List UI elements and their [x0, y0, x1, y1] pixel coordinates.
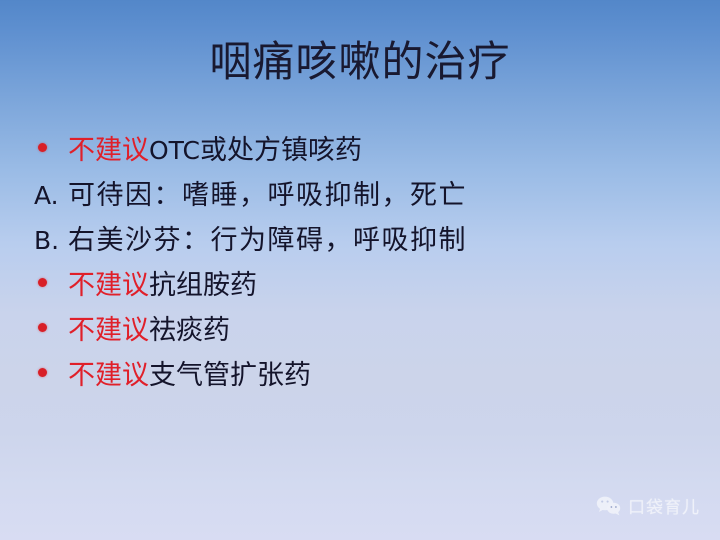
body-text: 支气管扩张药 — [149, 360, 311, 391]
body-text: 可待因：嗜睡，呼吸抑制，死亡 — [68, 180, 467, 211]
emphasis-text: 不建议 — [68, 315, 149, 346]
body-text: 或处方镇咳药 — [200, 135, 362, 166]
list-item-text: 不建议抗组胺药 — [68, 263, 257, 308]
list-item-text: 不建议祛痰药 — [68, 308, 230, 353]
list-item-text: 可待因：嗜睡，呼吸抑制，死亡 — [68, 173, 467, 218]
list-item: 不建议支气管扩张药 — [34, 353, 694, 398]
list-item: 不建议抗组胺药 — [34, 263, 694, 308]
list-marker-bullet — [34, 128, 68, 173]
body-text: 祛痰药 — [149, 315, 230, 346]
list-marker-bullet — [34, 353, 68, 398]
bullet-dot-icon — [38, 278, 47, 287]
wechat-icon — [596, 495, 622, 517]
bullet-dot-icon — [38, 368, 47, 377]
bullet-dot-icon — [38, 323, 47, 332]
bullet-list: 不建议OTC或处方镇咳药A.可待因：嗜睡，呼吸抑制，死亡B.右美沙芬：行为障碍，… — [34, 128, 694, 398]
list-marker-alpha: A. — [34, 173, 68, 218]
list-item-text: 右美沙芬：行为障碍，呼吸抑制 — [68, 218, 467, 263]
emphasis-text: 不建议 — [68, 135, 149, 166]
emphasis-text: 不建议 — [68, 360, 149, 391]
list-item-text: 不建议支气管扩张药 — [68, 353, 311, 398]
list-item: B.右美沙芬：行为障碍，呼吸抑制 — [34, 218, 694, 263]
list-marker-alpha: B. — [34, 218, 68, 263]
emphasis-text: 不建议 — [68, 270, 149, 301]
list-item: 不建议祛痰药 — [34, 308, 694, 353]
list-marker-bullet — [34, 263, 68, 308]
body-text: 右美沙芬：行为障碍，呼吸抑制 — [68, 225, 467, 256]
slide-canvas: 咽痛咳嗽的治疗 不建议OTC或处方镇咳药A.可待因：嗜睡，呼吸抑制，死亡B.右美… — [0, 0, 720, 540]
page-title: 咽痛咳嗽的治疗 — [0, 38, 720, 86]
list-item-text: 不建议OTC或处方镇咳药 — [68, 128, 362, 173]
list-item: A.可待因：嗜睡，呼吸抑制，死亡 — [34, 173, 694, 218]
watermark-label: 口袋育儿 — [628, 493, 700, 518]
body-text: 抗组胺药 — [149, 270, 257, 301]
list-marker-bullet — [34, 308, 68, 353]
bullet-dot-icon — [38, 143, 47, 152]
list-item: 不建议OTC或处方镇咳药 — [34, 128, 694, 173]
body-text: OTC — [149, 136, 200, 165]
watermark: 口袋育儿 — [596, 493, 700, 518]
